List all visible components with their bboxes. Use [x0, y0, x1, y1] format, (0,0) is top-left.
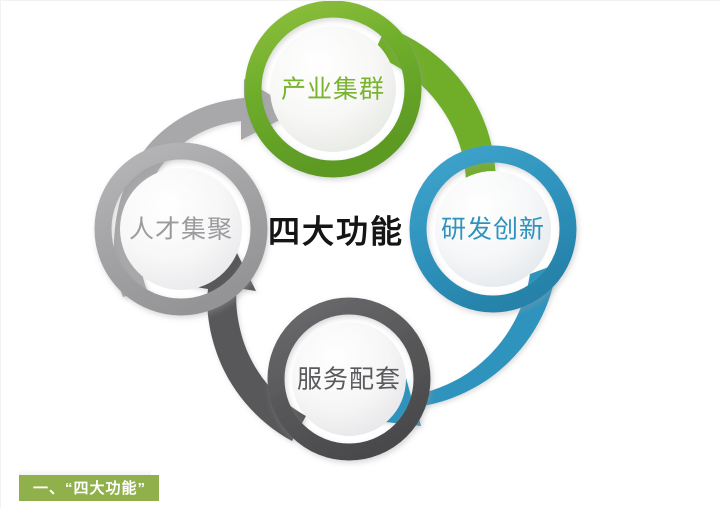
diagram-canvas: 产业集群 研发创新 服务配套 人才集聚 四大功能 一、“四大功能”	[0, 0, 720, 508]
node-label-talent-gathering: 人才集聚	[129, 216, 233, 244]
node-industry-cluster[interactable]: 产业集群	[253, 9, 413, 169]
node-label-industry-cluster: 产业集群	[281, 76, 385, 104]
node-label-rd-innovation: 研发创新	[441, 216, 545, 244]
cycle-diagram: 产业集群 研发创新 服务配套 人才集聚 四大功能	[1, 1, 720, 508]
node-rd-innovation[interactable]: 研发创新	[418, 154, 568, 304]
node-talent-gathering[interactable]: 人才集聚	[103, 151, 259, 307]
section-banner: 一、“四大功能”	[19, 475, 159, 501]
node-label-service-support: 服务配套	[297, 366, 401, 394]
section-banner-label: 一、“四大功能”	[33, 481, 146, 496]
diagram-center-title: 四大功能	[268, 213, 404, 249]
node-service-support[interactable]: 服务配套	[276, 306, 422, 452]
